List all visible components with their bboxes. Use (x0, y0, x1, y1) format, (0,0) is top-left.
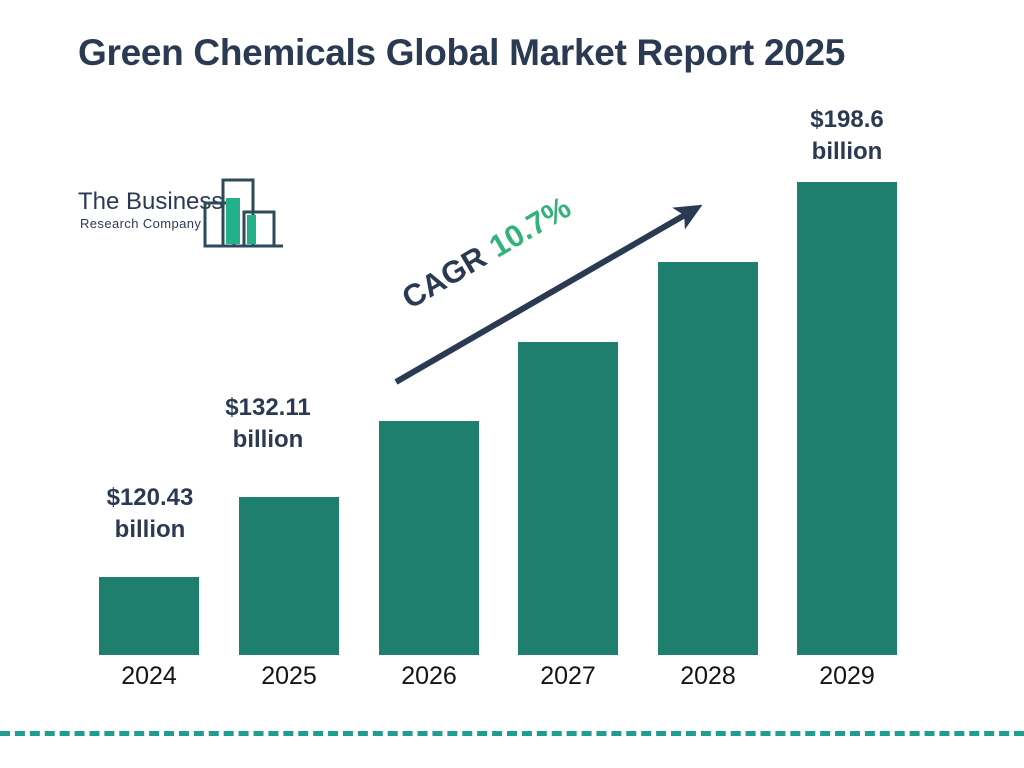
value-label-2025: $132.11 billion (188, 392, 348, 457)
value-label-2024-amount: $120.43 (70, 482, 230, 514)
bar-2024 (99, 577, 199, 655)
value-label-2025-amount: $132.11 (188, 392, 348, 424)
value-label-2029-unit: billion (767, 136, 927, 168)
bar-2025 (239, 497, 339, 655)
xtick-2029: 2029 (797, 662, 897, 691)
value-label-2025-unit: billion (188, 424, 348, 456)
value-label-2029-amount: $198.6 (767, 104, 927, 136)
bar-2027 (518, 342, 618, 655)
chart-canvas: Green Chemicals Global Market Report 202… (0, 0, 1024, 768)
xtick-2024: 2024 (99, 662, 199, 691)
xtick-2026: 2026 (379, 662, 479, 691)
value-label-2024-unit: billion (70, 514, 230, 546)
footer-divider (0, 731, 1024, 736)
value-label-2029: $198.6 billion (767, 104, 927, 169)
bar-2028 (658, 262, 758, 655)
bar-2029 (797, 182, 897, 655)
xtick-2027: 2027 (518, 662, 618, 691)
xtick-2028: 2028 (658, 662, 758, 691)
bar-2026 (379, 421, 479, 655)
xtick-2025: 2025 (239, 662, 339, 691)
value-label-2024: $120.43 billion (70, 482, 230, 547)
